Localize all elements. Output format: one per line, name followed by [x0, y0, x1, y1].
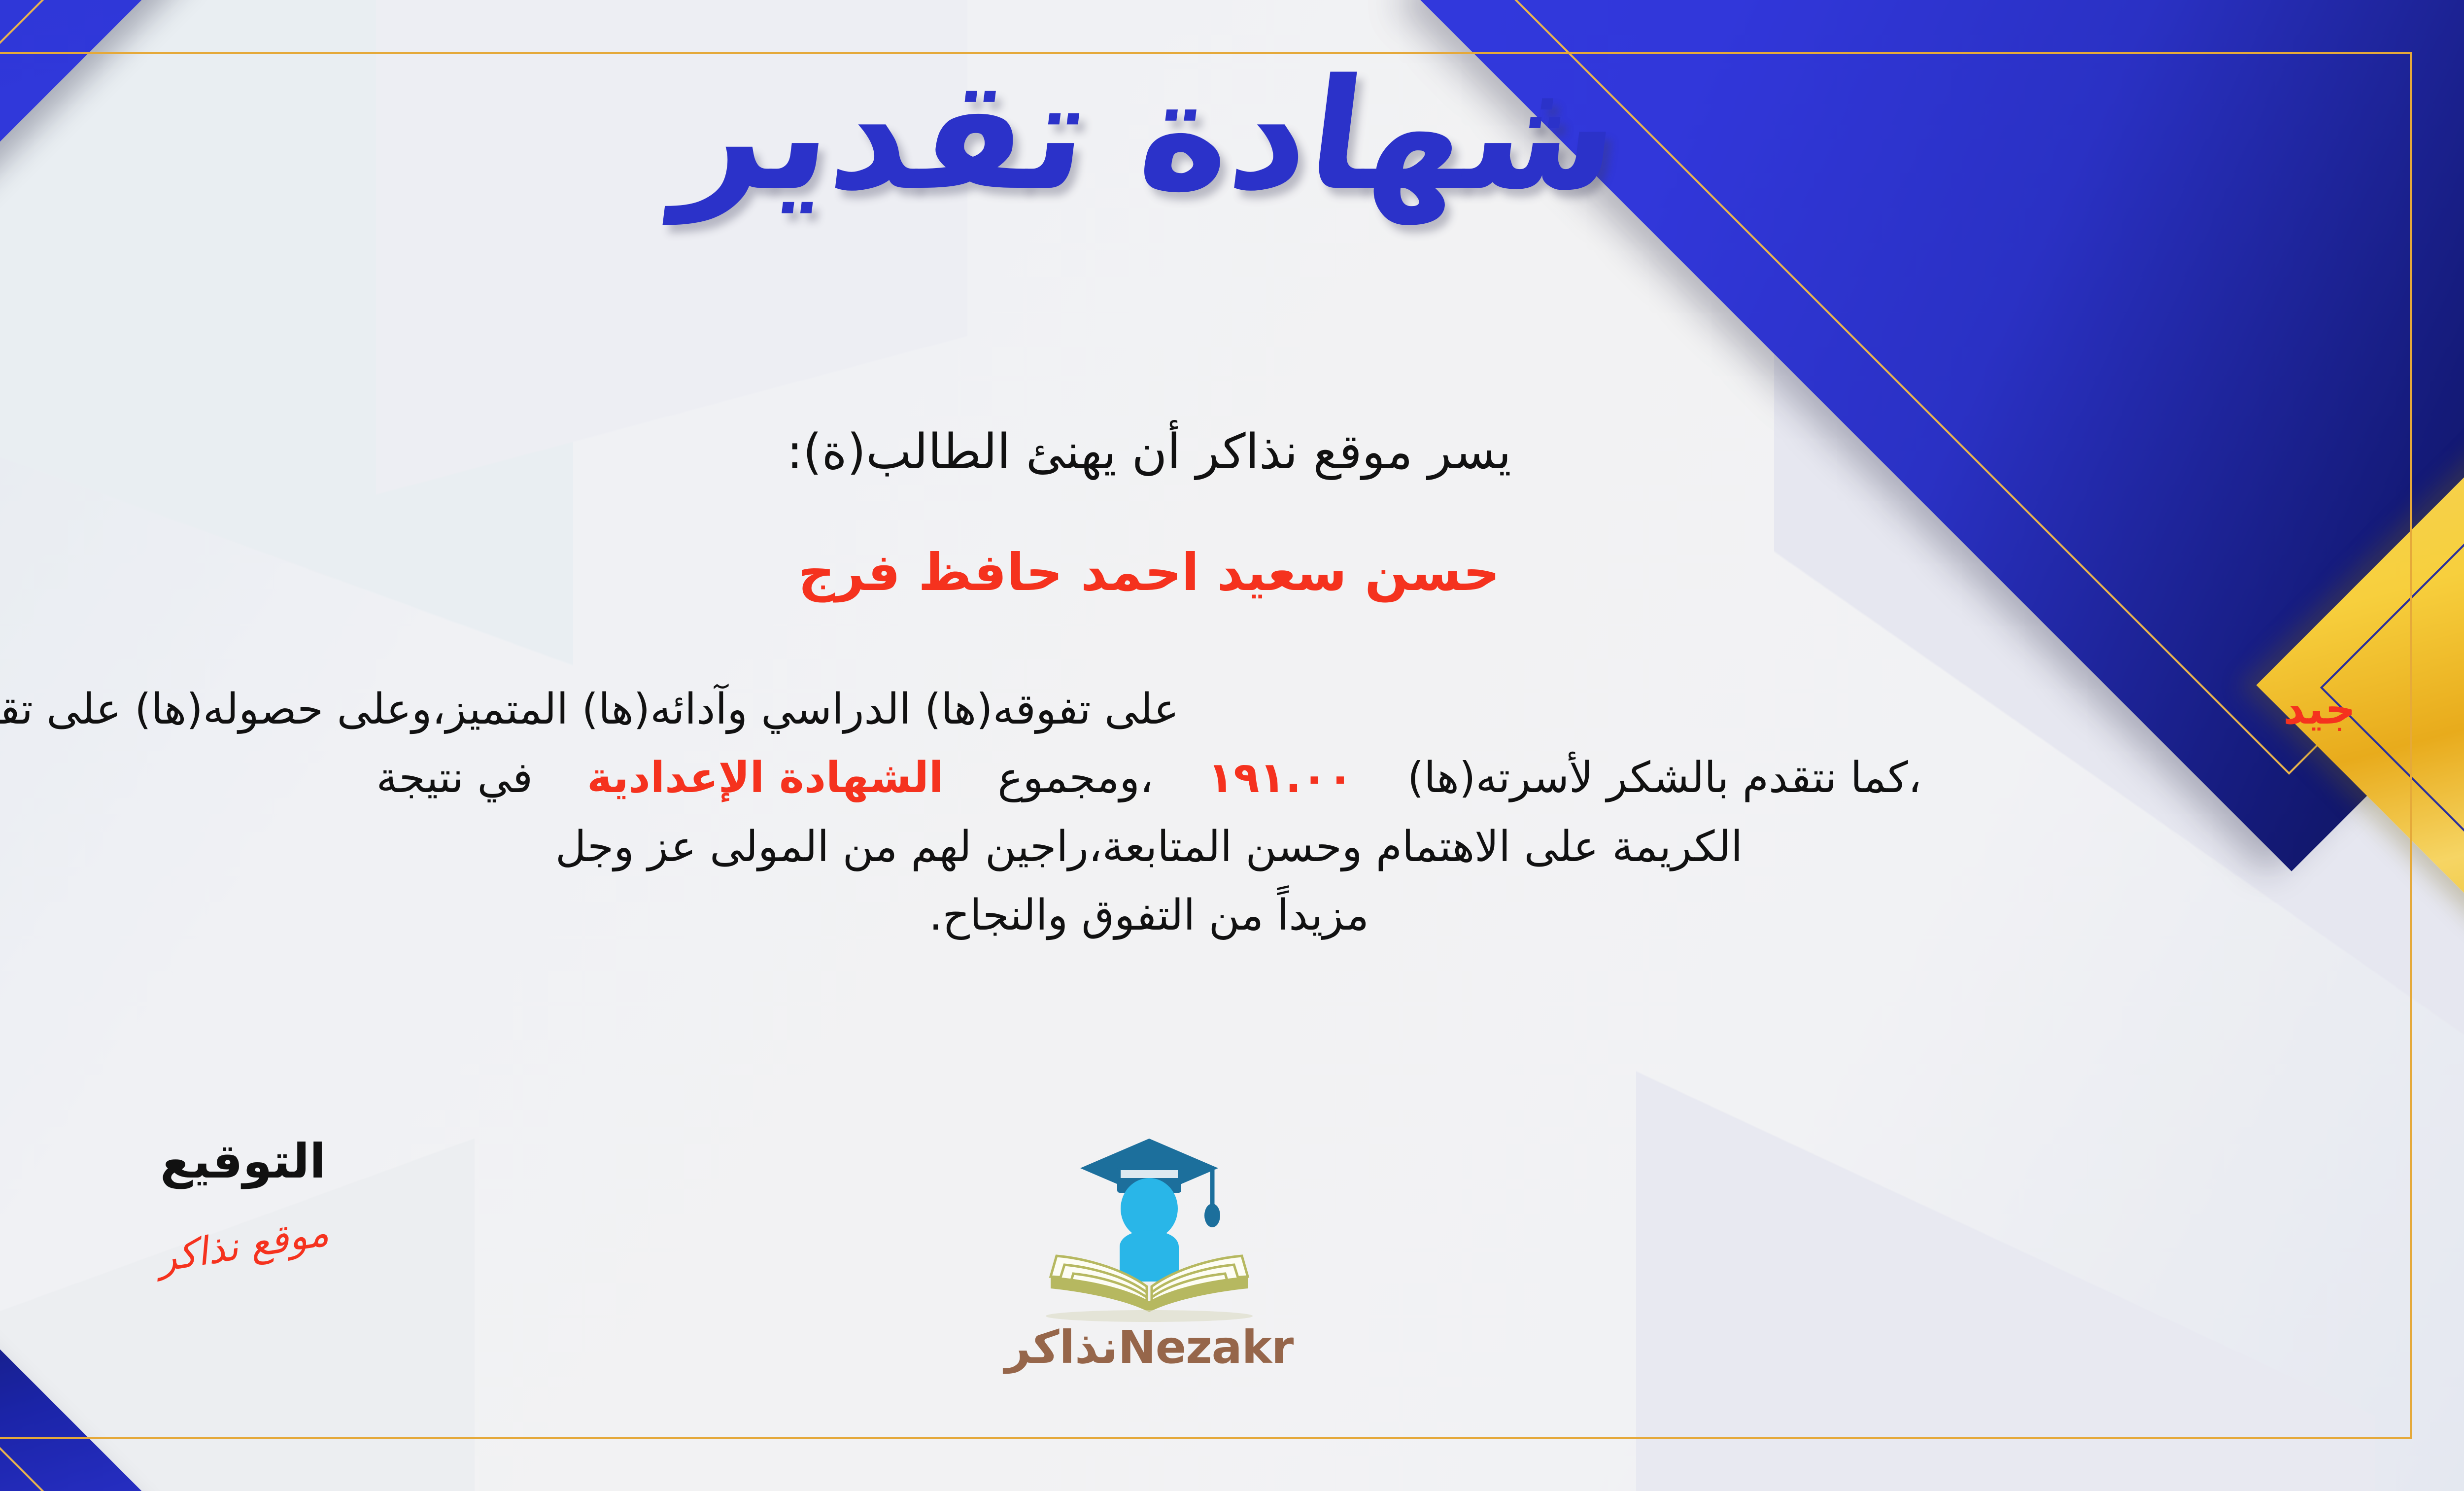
grade-value: جيد — [2283, 675, 2356, 744]
brand-logo: Nezakrنذاكر — [0, 1119, 2390, 1374]
brand-logo-text: Nezakrنذاكر — [1005, 1321, 1294, 1374]
certificate-page: شهادة تقدير يسر موقع نذاكر أن يهنئ الطال… — [0, 0, 2464, 1491]
congratulation-line: يسر موقع نذاكر أن يهنئ الطالب(ة): — [0, 424, 2390, 480]
certificate-title: شهادة تقدير — [0, 59, 2399, 212]
body-line-3: الكريمة على الاهتمام وحسن المتابعة،راجين… — [0, 813, 2390, 881]
body-line-2-end-text: ،كما نتقدم بالشكر لأسرته(ها) — [1407, 744, 1922, 812]
body-line-3-text: الكريمة على الاهتمام وحسن المتابعة،راجين… — [555, 813, 1743, 881]
body-line-2-mid-text: ،ومجموع — [997, 744, 1153, 812]
body-line-2-start-text: في نتيجة — [376, 744, 533, 812]
body-line-4-text: مزيداً من التفوق والنجاح. — [929, 881, 1369, 950]
certificate-body: جيد على تفوقه(ها) الدراسي وآدائه(ها) الم… — [0, 675, 2390, 950]
graduation-book-icon — [977, 1119, 1322, 1326]
exam-name: الشهادة الإعدادية — [587, 744, 943, 812]
body-line-1-text: على تفوقه(ها) الدراسي وآدائه(ها) المتميز… — [0, 675, 1179, 744]
total-score: ١٩١.٠٠ — [1208, 744, 1353, 812]
certificate-content: شهادة تقدير يسر موقع نذاكر أن يهنئ الطال… — [0, 0, 2390, 1491]
student-name: حسن سعيد احمد حافظ فرج — [0, 542, 2390, 602]
body-line-4: مزيداً من التفوق والنجاح. — [0, 881, 2390, 950]
body-line-1: جيد على تفوقه(ها) الدراسي وآدائه(ها) الم… — [0, 675, 2390, 744]
body-line-2: ،كما نتقدم بالشكر لأسرته(ها) ١٩١.٠٠ ،ومج… — [0, 744, 2390, 812]
